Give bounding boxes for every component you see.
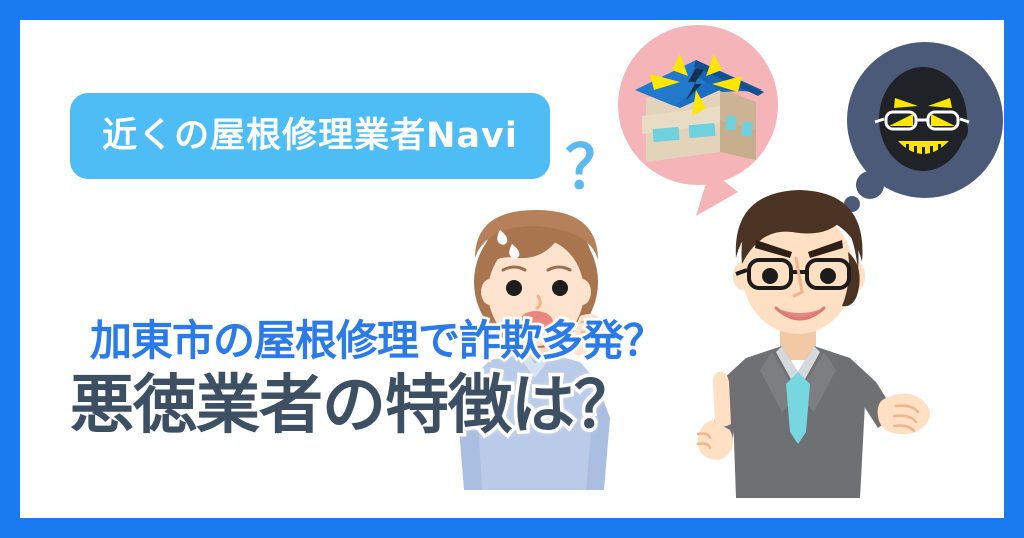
businessman-character	[698, 190, 930, 498]
site-name-badge[interactable]: 近くの屋根修理業者Navi	[70, 93, 550, 179]
villain-face-icon	[875, 67, 969, 171]
pointing-hand-icon	[698, 372, 733, 460]
banner-canvas: 近くの屋根修理業者Navi ？ 加東市の屋根修理で詐欺多発？ 悪徳業者の特徴は？	[20, 20, 1004, 518]
glasses-icon	[736, 260, 849, 288]
damaged-house-speech-bubble	[618, 25, 778, 216]
headline-subtitle: 加東市の屋根修理で詐欺多発？	[90, 320, 664, 362]
banner-frame: 近くの屋根修理業者Navi ？ 加東市の屋根修理で詐欺多発？ 悪徳業者の特徴は？	[0, 0, 1024, 538]
open-hand-icon	[878, 393, 931, 434]
villain-thought-bubble	[844, 42, 1003, 212]
headline-main: 悪徳業者の特徴は？	[70, 374, 637, 438]
question-mark-decoration: ？	[565, 138, 625, 198]
site-name-label: 近くの屋根修理業者Navi	[102, 119, 518, 154]
house-illustration	[635, 54, 764, 162]
